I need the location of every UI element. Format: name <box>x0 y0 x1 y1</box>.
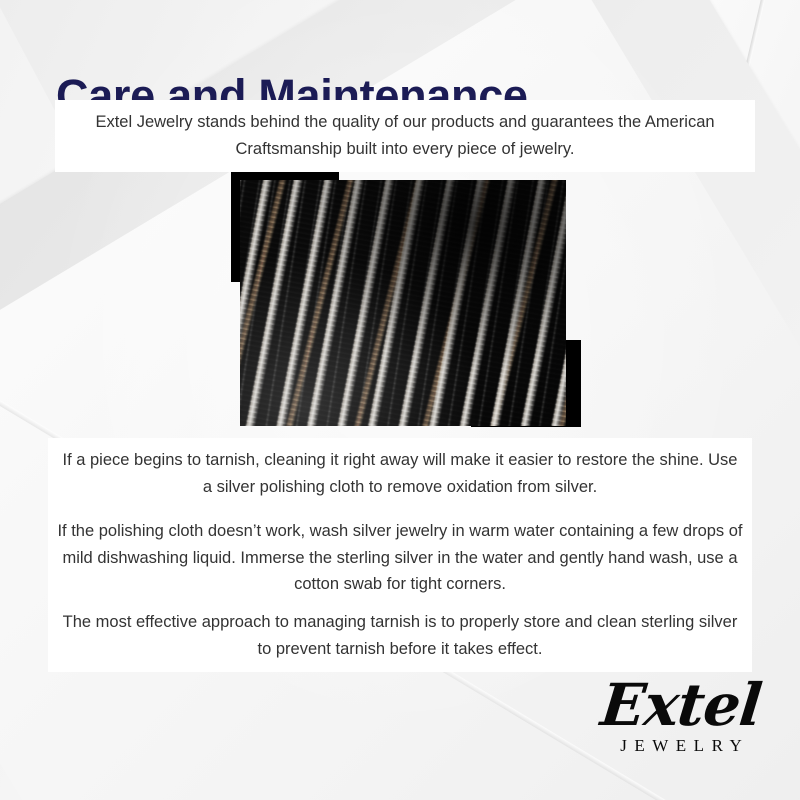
photo-shading <box>240 180 566 426</box>
extel-jewelry-logo: Extel JEWELRY <box>586 676 776 768</box>
intro-text-card: Extel Jewelry stands behind the quality … <box>55 100 755 172</box>
paragraph-card-prevent-tarnish: The most effective approach to managing … <box>48 600 752 672</box>
paragraph-card-tarnish-early: If a piece begins to tarnish, cleaning i… <box>48 438 752 510</box>
jewelry-chains-photo <box>240 180 566 426</box>
logo-subtitle: JEWELRY <box>586 736 776 756</box>
poster-content: Care and Maintenance Extel Jewelry stand… <box>0 0 800 800</box>
poster-canvas: Care and Maintenance Extel Jewelry stand… <box>0 0 800 800</box>
logo-brand-script: Extel <box>583 676 779 734</box>
paragraph-card-warm-water-wash: If the polishing cloth doesn’t work, was… <box>48 509 752 608</box>
jewelry-photo-block <box>231 172 581 427</box>
